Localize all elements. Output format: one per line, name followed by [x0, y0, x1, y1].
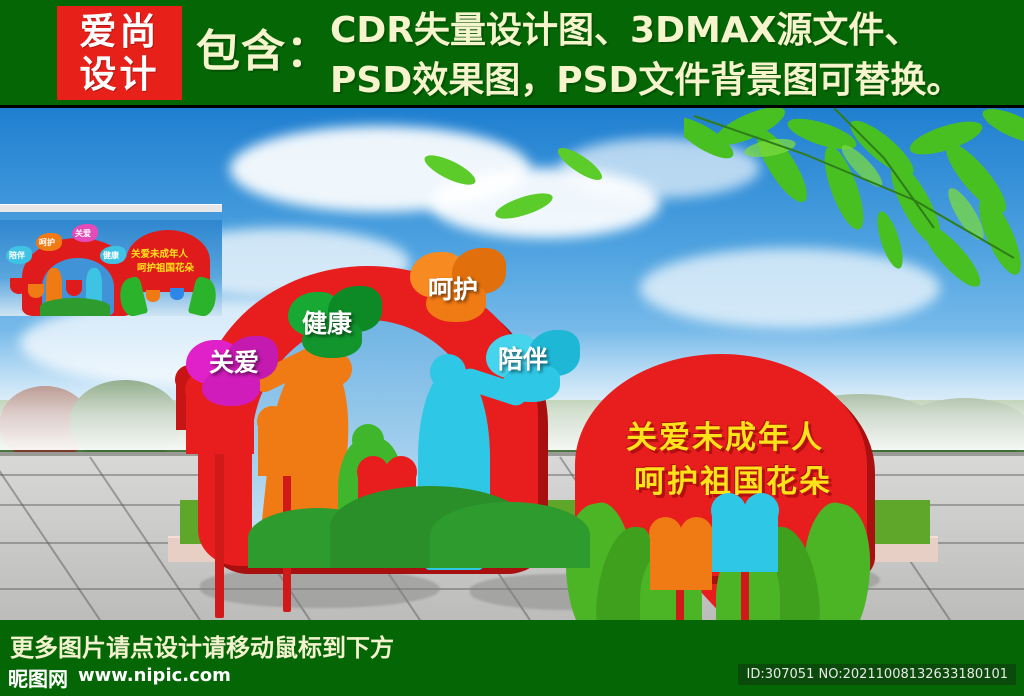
heart-pole-1: [215, 438, 224, 618]
thumb-heart-small: [66, 280, 82, 296]
flower-heart-cyan: [712, 516, 778, 572]
slogan-line-1: 关爱未成年人: [575, 416, 875, 460]
logo-line-2: 设计: [80, 53, 160, 96]
thumb-flower-orange: [146, 290, 160, 302]
foliage-leaf-floating: [420, 144, 620, 264]
heart-lobe-left: [711, 493, 746, 528]
pole-heart-orange-1: [258, 426, 316, 476]
thumb-label-jiankang: 健康: [103, 250, 119, 261]
butterfly-label-jiankang: 健康: [302, 304, 352, 340]
heart-lobe-right: [744, 493, 779, 528]
design-thumbnail[interactable]: 陪伴 呵护 关爱 健康 关爱未成年人 呵护祖国花朵: [0, 220, 222, 316]
thumb-label-hehu: 呵护: [39, 237, 55, 248]
slogan-heart-text: 关爱未成年人 呵护祖国花朵: [575, 416, 875, 504]
site-brand[interactable]: 昵图网: [8, 663, 68, 692]
pave-line-d1: [0, 456, 108, 620]
figure-green-head: [352, 424, 384, 456]
thumbnail-shelf: [0, 204, 222, 212]
thumb-slogan-line-2: 呵护祖国花朵: [137, 260, 194, 274]
thumb-label-guanai: 关爱: [75, 228, 91, 239]
preview-image: 关爱 健康 呵护 陪伴: [0, 108, 1024, 620]
thumb-flower-cyan: [170, 288, 184, 300]
asset-id-badge: ID:307051 NO:20211008132633180101: [738, 664, 1016, 685]
footer-notice: 更多图片请点设计请移动鼠标到下方: [10, 628, 394, 663]
butterfly-label-hehu: 呵护: [428, 270, 478, 306]
heart-lobe-right: [385, 456, 417, 488]
header-banner: 爱尚 设计 包含： CDR失量设计图、3DMAX源文件、 PSD效果图，PSD文…: [0, 0, 1024, 108]
butterfly-label-guanai: 关爱: [209, 343, 259, 379]
thumb-bush: [40, 298, 110, 316]
includes-label: 包含：: [196, 17, 336, 87]
flower-heart-orange: [650, 538, 712, 590]
heart-lobe-left: [257, 406, 288, 437]
screenshot-root: 爱尚 设计 包含： CDR失量设计图、3DMAX源文件、 PSD效果图，PSD文…: [0, 0, 1024, 696]
thumb-label-peiban: 陪伴: [9, 250, 25, 261]
brand-logo: 爱尚 设计: [57, 6, 182, 100]
foliage-overlay: [684, 108, 1024, 288]
heart-lobe-right: [286, 406, 317, 437]
ground-stain-1: [200, 568, 440, 608]
thumb-pole-heart-1: [10, 278, 28, 294]
heart-lobe-right: [680, 517, 713, 550]
thumb-slogan-line-1: 关爱未成年人: [131, 246, 188, 260]
includes-list: CDR失量设计图、3DMAX源文件、 PSD效果图，PSD文件背景图可替换。: [330, 6, 970, 106]
thumb-pole-heart-2: [28, 284, 44, 298]
site-url[interactable]: www.nipic.com: [78, 665, 231, 686]
includes-line-2: PSD效果图，PSD文件背景图可替换。: [330, 56, 970, 106]
logo-line-1: 爱尚: [80, 10, 160, 53]
heart-lobe-left: [649, 517, 682, 550]
bush-right: [430, 502, 590, 568]
butterfly-label-peiban: 陪伴: [498, 340, 548, 376]
footer-bar: 更多图片请点设计请移动鼠标到下方 昵图网 www.nipic.com ID:30…: [0, 620, 1024, 696]
includes-line-1: CDR失量设计图、3DMAX源文件、: [330, 6, 970, 56]
